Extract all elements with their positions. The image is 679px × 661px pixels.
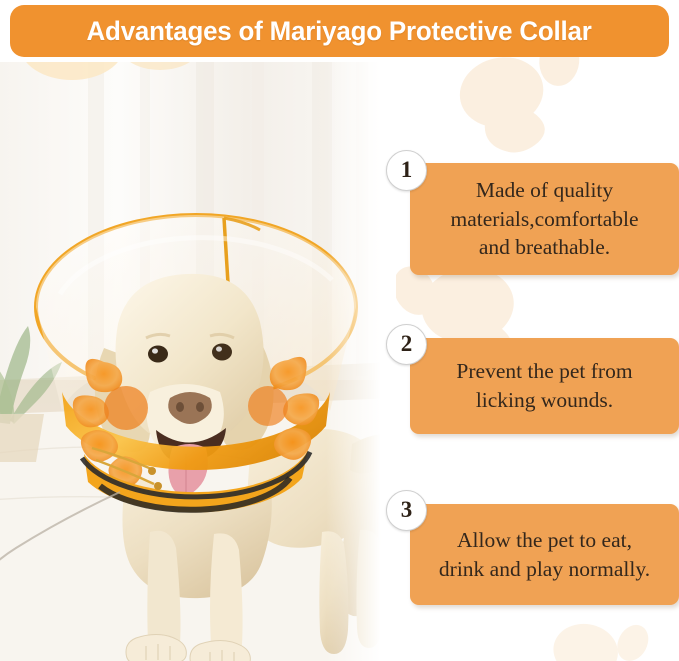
feature-item-2: Prevent the pet from licking wounds. 2	[386, 324, 679, 434]
feature-panel-3: Allow the pet to eat, drink and play nor…	[410, 504, 679, 605]
feature-text-3: Allow the pet to eat, drink and play nor…	[433, 526, 656, 584]
header-banner: Advantages of Mariyago Protective Collar	[10, 5, 669, 57]
product-photo	[0, 62, 396, 661]
feature-panel-2: Prevent the pet from licking wounds.	[410, 338, 679, 434]
feature-text-2: Prevent the pet from licking wounds.	[450, 357, 638, 415]
feature-panel-1: Made of quality materials,comfortable an…	[410, 163, 679, 275]
feature-number-2: 2	[401, 332, 413, 355]
infographic-root: Advantages of Mariyago Protective Collar…	[0, 0, 679, 661]
feature-badge-3: 3	[386, 490, 427, 531]
feature-item-3: Allow the pet to eat, drink and play nor…	[386, 490, 679, 605]
page-title: Advantages of Mariyago Protective Collar	[87, 16, 592, 47]
feature-text-1: Made of quality materials,comfortable an…	[444, 176, 644, 262]
feature-number-3: 3	[401, 498, 413, 521]
feature-badge-1: 1	[386, 150, 427, 191]
feature-item-1: Made of quality materials,comfortable an…	[386, 150, 679, 275]
feature-badge-2: 2	[386, 324, 427, 365]
feature-number-1: 1	[401, 158, 413, 181]
